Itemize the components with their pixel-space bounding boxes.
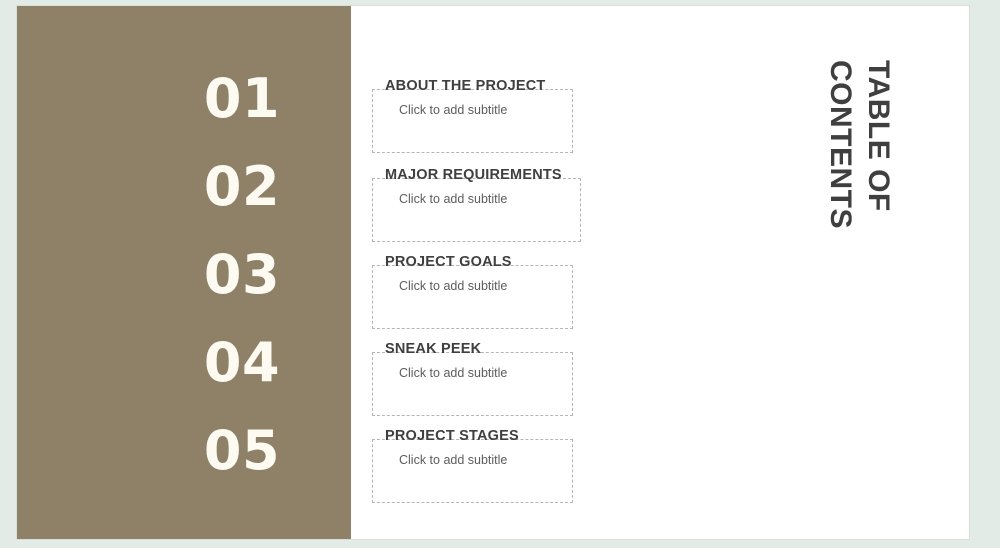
subtitle-placeholder-box-1[interactable]: Click to add subtitle bbox=[372, 89, 573, 153]
table-of-contents-heading[interactable]: TABLE OF CONTENTS bbox=[777, 36, 897, 246]
section-number-02: 02 bbox=[157, 160, 327, 214]
slide-canvas: 01 02 03 04 05 Click to add subtitle ABO… bbox=[17, 6, 969, 539]
section-title-1[interactable]: ABOUT THE PROJECT bbox=[385, 78, 546, 94]
subtitle-placeholder-text-5: Click to add subtitle bbox=[399, 453, 507, 467]
sections-column: Click to add subtitle ABOUT THE PROJECT … bbox=[372, 6, 632, 539]
heading-line-table-of: TABLE OF bbox=[861, 60, 895, 212]
subtitle-placeholder-text-3: Click to add subtitle bbox=[399, 279, 507, 293]
subtitle-placeholder-box-3[interactable]: Click to add subtitle bbox=[372, 265, 573, 329]
section-title-5[interactable]: PROJECT STAGES bbox=[385, 428, 519, 444]
subtitle-placeholder-text-2: Click to add subtitle bbox=[399, 192, 507, 206]
section-title-2[interactable]: MAJOR REQUIREMENTS bbox=[385, 167, 562, 183]
subtitle-placeholder-text-1: Click to add subtitle bbox=[399, 103, 507, 117]
subtitle-placeholder-box-5[interactable]: Click to add subtitle bbox=[372, 439, 573, 503]
subtitle-placeholder-box-4[interactable]: Click to add subtitle bbox=[372, 352, 573, 416]
heading-line-contents: CONTENTS bbox=[823, 60, 857, 229]
subtitle-placeholder-text-4: Click to add subtitle bbox=[399, 366, 507, 380]
section-number-05: 05 bbox=[157, 424, 327, 478]
subtitle-placeholder-box-2[interactable]: Click to add subtitle bbox=[372, 178, 581, 242]
section-title-4[interactable]: SNEAK PEEK bbox=[385, 341, 481, 357]
section-number-01: 01 bbox=[157, 72, 327, 126]
section-number-04: 04 bbox=[157, 336, 327, 390]
section-title-3[interactable]: PROJECT GOALS bbox=[385, 254, 512, 270]
section-number-03: 03 bbox=[157, 248, 327, 302]
number-panel: 01 02 03 04 05 bbox=[17, 6, 351, 539]
